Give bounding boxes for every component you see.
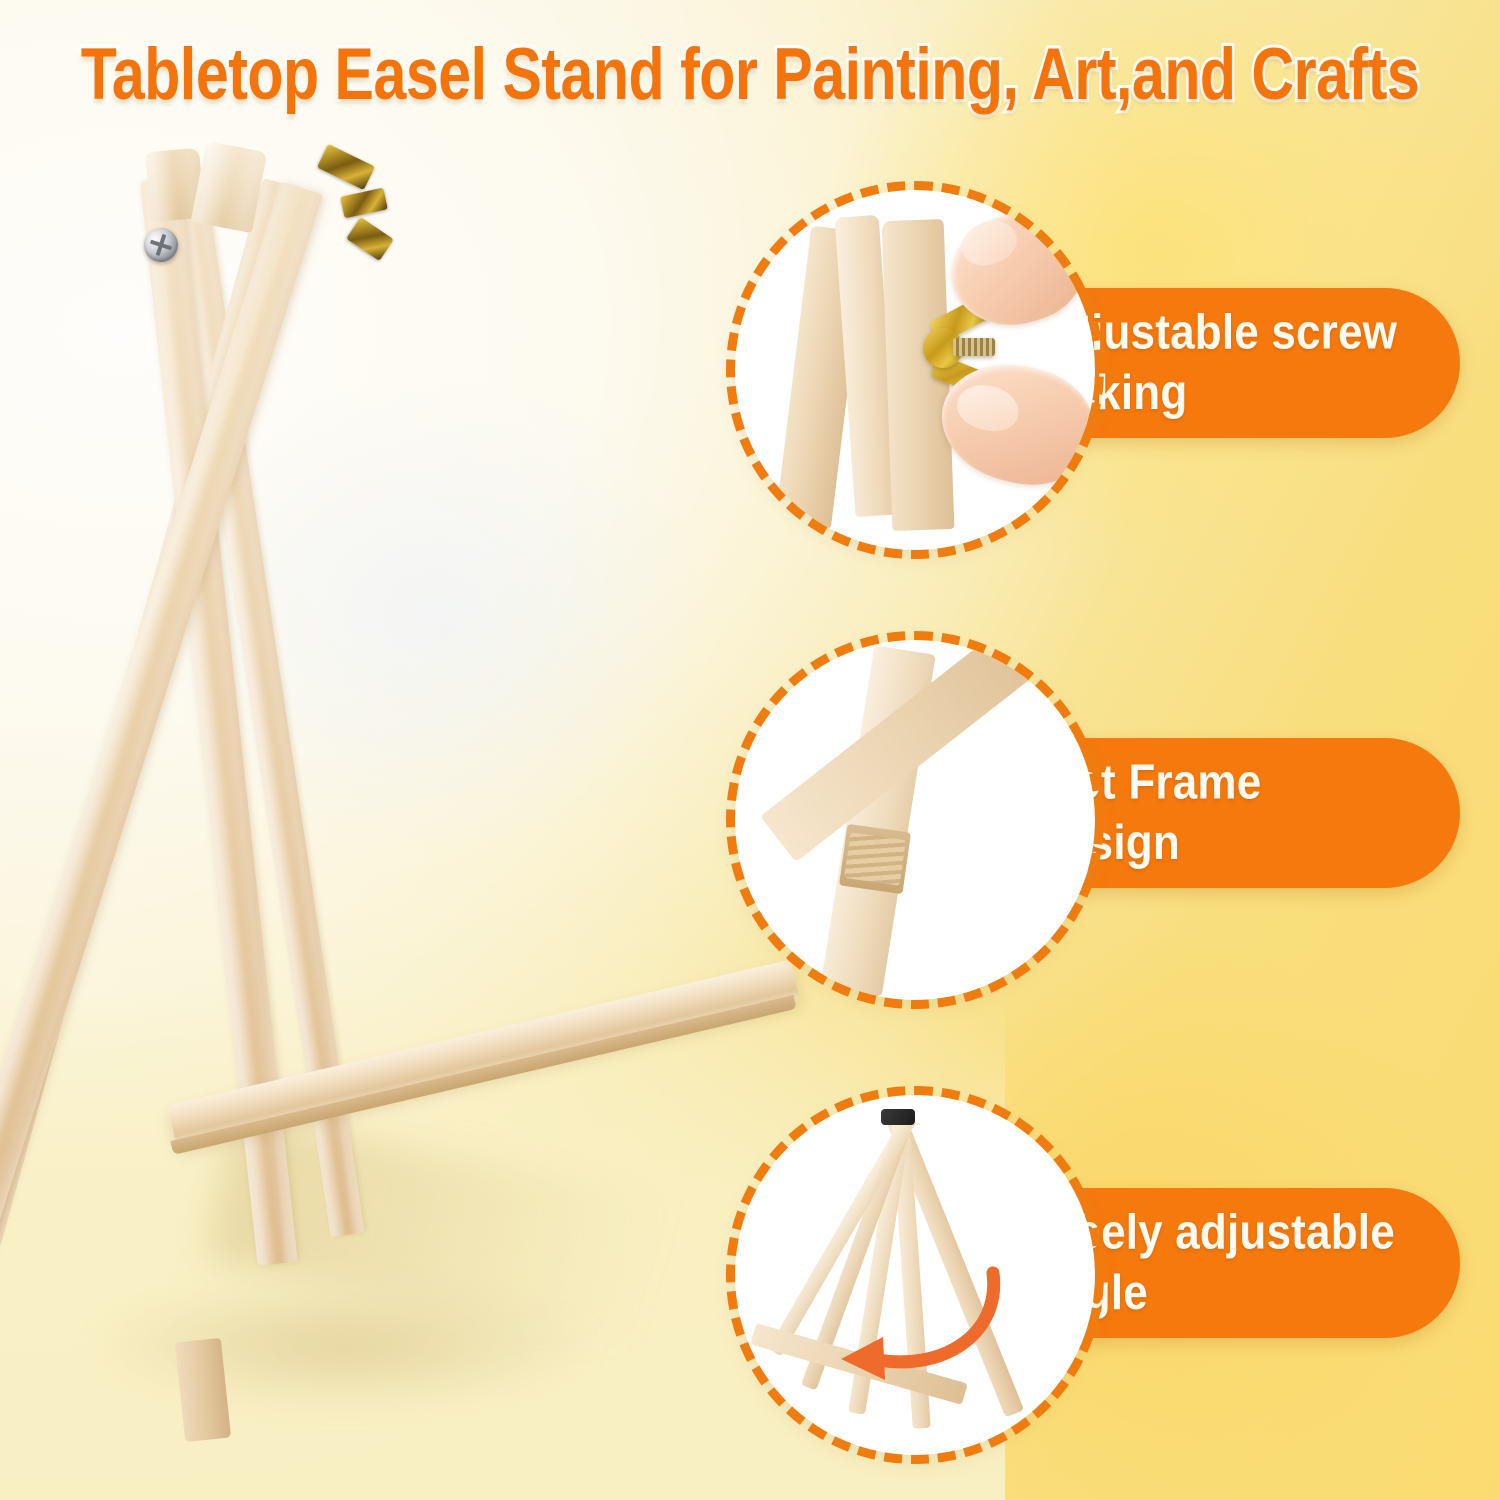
fan-apex-hardware: [881, 1109, 915, 1125]
feature-freely-adjustable-angle: Freely adjustable angle: [0, 0, 1500, 1500]
feature-3-photo-image: [735, 1095, 1095, 1455]
rotation-arrow-icon: [815, 1263, 1005, 1393]
feature-3-photo: [735, 1095, 1095, 1455]
infographic-canvas: Tabletop Easel Stand for Painting, Art,a…: [0, 0, 1500, 1500]
